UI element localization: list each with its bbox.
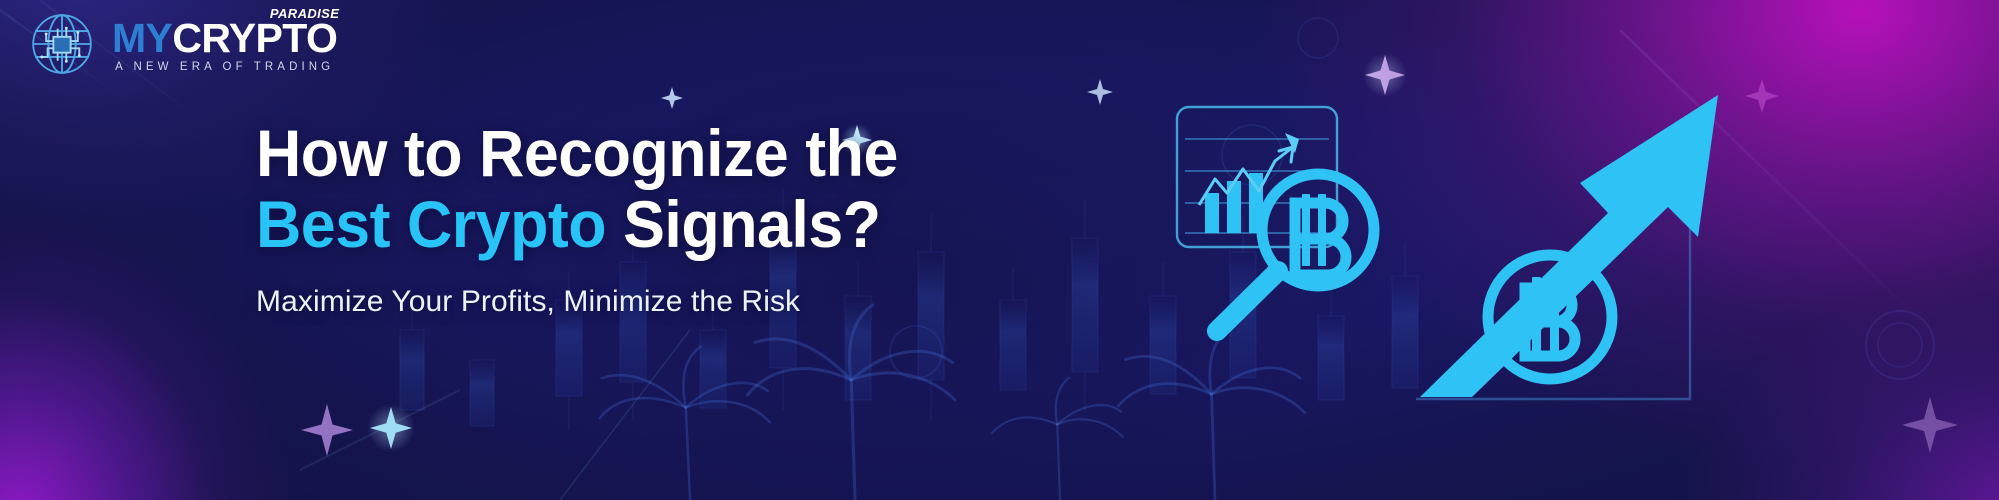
chart-magnifier-bitcoin-illustration — [1175, 105, 1390, 340]
brand-tagline: A NEW ERA OF TRADING — [112, 61, 337, 73]
globe-circuit-icon — [26, 8, 98, 80]
brand-name-crypto: CRYPTO — [172, 15, 337, 61]
bitcoin-symbol-icon — [1295, 194, 1346, 275]
brand-logo[interactable]: MYCRYPTO PARADISE A NEW ERA OF TRADING — [26, 8, 337, 80]
promo-banner: MYCRYPTO PARADISE A NEW ERA OF TRADING H… — [0, 0, 1999, 500]
hero-headline-line-1: How to Recognize the — [256, 118, 898, 189]
hero-headline-rest: Signals? — [606, 187, 880, 261]
brand-wordmark: MYCRYPTO PARADISE A NEW ERA OF TRADING — [112, 15, 337, 73]
rising-arrow-bitcoin-illustration — [1412, 85, 1732, 405]
hero-headline-line-2: Best Crypto Signals? — [256, 189, 898, 260]
hero-subheadline: Maximize Your Profits, Minimize the Risk — [256, 285, 932, 319]
brand-name: MYCRYPTO — [112, 19, 337, 58]
brand-superscript-paradise: PARADISE — [270, 6, 339, 21]
hero-headline-accent: Best Crypto — [256, 187, 606, 261]
hero-copy: How to Recognize the Best Crypto Signals… — [256, 118, 932, 319]
brand-name-my: MY — [112, 15, 172, 61]
